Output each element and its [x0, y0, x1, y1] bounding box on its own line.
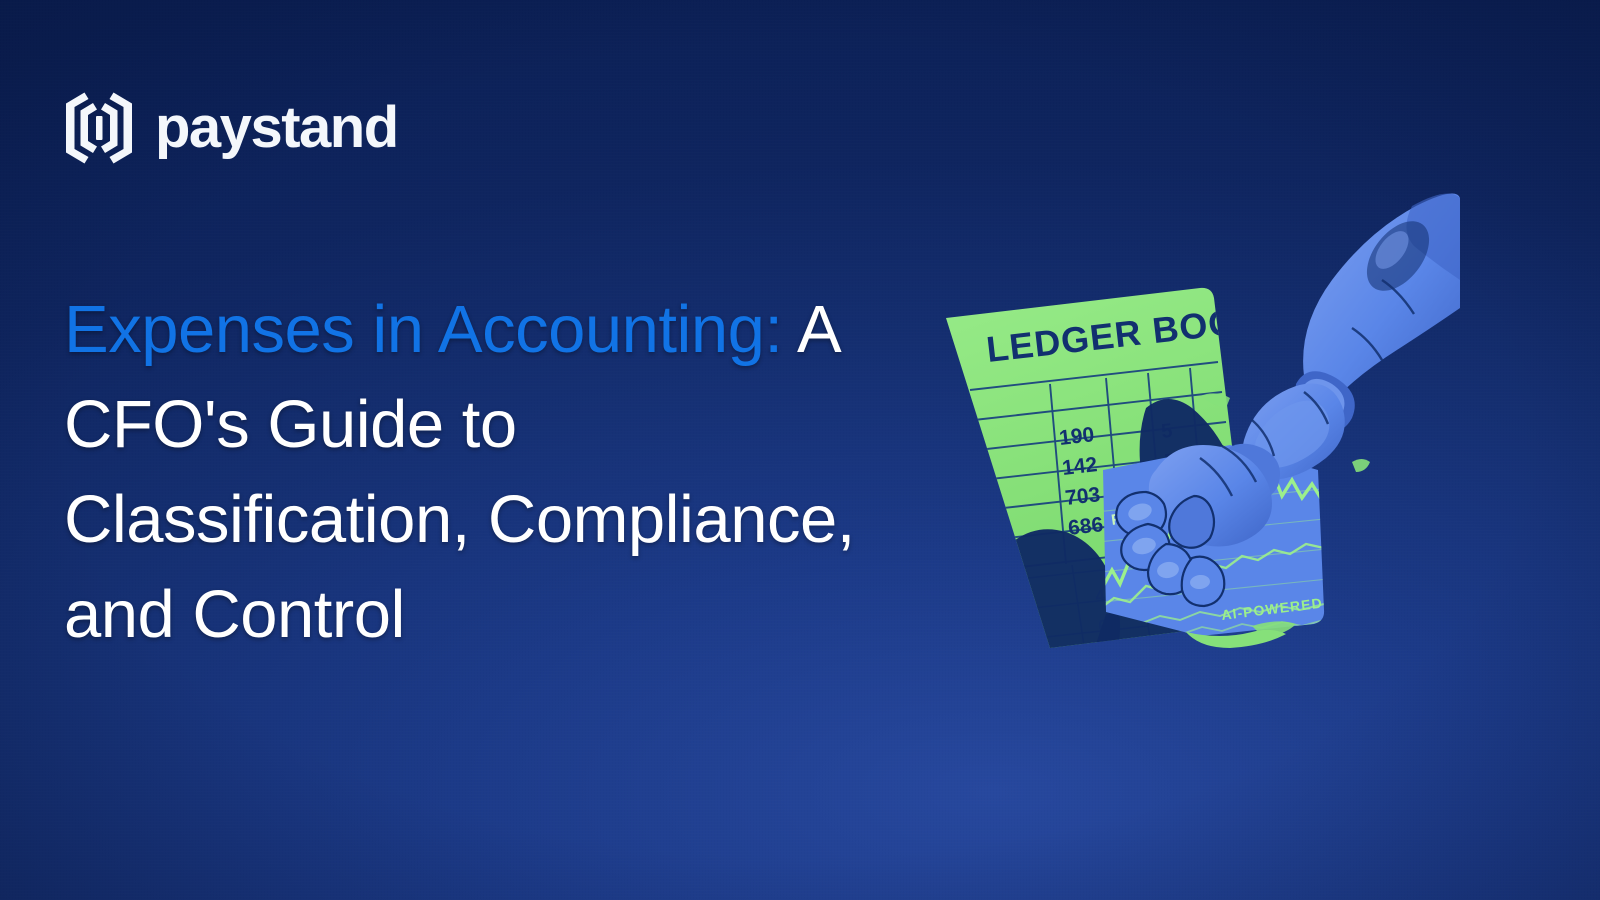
paystand-wordmark: paystand	[155, 99, 398, 157]
ledger-shadow-3: 82	[1103, 675, 1124, 696]
paystand-logo[interactable]: paystand	[62, 90, 398, 166]
paper-speck	[1352, 459, 1370, 472]
ledger-amount-2: 703	[1064, 483, 1101, 510]
hero-illustration: LEDGER BOOK	[900, 140, 1460, 740]
headline-accent: Expenses in Accounting:	[64, 292, 783, 367]
page-title: Expenses in Accounting: A CFO's Guide to…	[64, 282, 904, 663]
ledger-shadow-2: 26	[1100, 645, 1121, 666]
hero-banner: paystand Expenses in Accounting: A CFO's…	[0, 0, 1600, 900]
ledger-amount-1: 142	[1061, 453, 1098, 480]
paystand-hex-icon	[62, 90, 136, 166]
ledger-amount-0: 190	[1058, 423, 1095, 450]
